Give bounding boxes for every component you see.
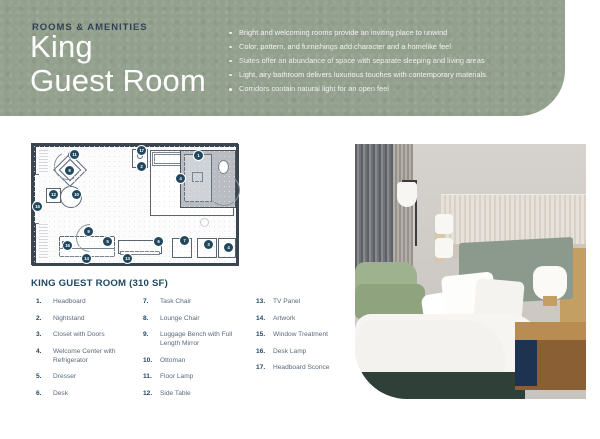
wall-top [32,144,239,147]
legend-item-label: Closet with Doors [53,330,140,339]
plan-marker-15[interactable]: 15 [33,202,42,211]
plan-marker-3[interactable]: 3 [204,240,213,249]
legend-item-number: 2. [36,314,50,323]
bullet-item: Color, pattern, and furnishings add char… [228,40,558,54]
legend-item-label: TV Panel [273,297,356,306]
header-band: ROOMS & AMENITIES King Guest Room Bright… [0,0,565,116]
bullet-item: Light, airy bathroom delivers luxurious … [228,68,558,82]
legend-item-number: 13. [256,297,270,306]
plan-marker-5[interactable]: 5 [103,237,112,246]
legend-item-label: Nightstand [53,314,140,323]
legend-item: 3. Closet with Doors [36,330,140,339]
legend-title: KING GUEST ROOM (310 SF) [31,278,351,289]
photo-floor-lamp-shade [397,182,417,207]
photo-table-lamp-base [543,296,557,306]
plan-marker-17[interactable]: 17 [137,146,146,155]
legend-item: 8. Lounge Chair [143,314,253,323]
window-treatment-upper [39,150,48,174]
plan-marker-12[interactable]: 12 [49,190,58,199]
plan-marker-11[interactable]: 11 [70,150,79,159]
guest-room-photo [355,144,586,399]
legend-item: 2. Nightstand [36,314,140,323]
window-left [35,174,39,224]
plan-marker-4[interactable]: 4 [224,243,233,252]
legend-column-2: 7. Task Chair 8. Lounge Chair 9. Luggage… [143,297,253,406]
bullet-item: Bright and welcoming rooms provide an in… [228,26,558,40]
legend-item-label: Dresser [53,372,140,381]
legend-item-number: 6. [36,389,50,398]
legend-item: 12. Side Table [143,389,253,398]
floor-plan-canvas: 1 17 2 11 8 12 10 15 9 5 16 14 13 6 7 3 … [31,143,238,265]
legend-item: 4. Welcome Center with Refrigerator [36,347,140,365]
legend-item-number: 8. [143,314,157,323]
shower-drain [192,172,203,182]
legend-item-number: 5. [36,372,50,381]
legend-item-label: Ottoman [160,356,253,365]
legend-item: 5. Dresser [36,372,140,381]
legend-item-number: 12. [143,389,157,398]
wall-bottom [32,263,239,266]
legend-item-label: Task Chair [160,297,253,306]
legend-item-label: Artwork [273,314,356,323]
page-title: King Guest Room [30,30,206,98]
bathroom-door-arc [208,174,240,206]
photo-nightstand-inset [515,340,537,386]
legend-item: 1. Headboard [36,297,140,306]
photo-table-lamp-shade [533,266,567,300]
legend-item: 6. Desk [36,389,140,398]
legend-item-label: Headboard Sconce [273,363,356,372]
legend-columns: 1. Headboard 2. Nightstand 3. Closet wit… [31,297,351,405]
legend-item: 17. Headboard Sconce [256,363,356,372]
artwork [200,218,209,227]
legend-item: 9. Luggage Bench with Full Length Mirror [143,330,253,348]
plan-marker-7[interactable]: 7 [180,236,189,245]
plan-marker-9[interactable]: 9 [84,227,93,236]
legend-item-number: 3. [36,330,50,339]
legend-column-1: 1. Headboard 2. Nightstand 3. Closet wit… [36,297,140,406]
legend-item: 16. Desk Lamp [256,347,356,356]
legend-item-number: 17. [256,363,270,372]
legend-item-number: 1. [36,297,50,306]
legend-item: 13. TV Panel [256,297,356,306]
plan-marker-4b[interactable]: 4 [176,174,185,183]
legend-item-label: Headboard [53,297,140,306]
legend-item-label: Floor Lamp [160,372,253,381]
legend-item: 7. Task Chair [143,297,253,306]
legend-item-number: 10. [143,356,157,365]
legend-item-number: 4. [36,347,50,356]
legend-item-number: 16. [256,347,270,356]
legend-item-label: Window Treatment [273,330,356,339]
legend-item-number: 7. [143,297,157,306]
plan-marker-16[interactable]: 16 [63,241,72,250]
feature-bullet-list: Bright and welcoming rooms provide an in… [228,26,558,96]
plan-marker-14[interactable]: 14 [82,254,91,263]
floor-plan: 1 17 2 11 8 12 10 15 9 5 16 14 13 6 7 3 … [31,143,238,265]
plan-marker-6[interactable]: 6 [154,237,163,246]
window-treatment-lower [39,224,48,260]
plan-marker-10[interactable]: 10 [72,190,81,199]
legend-item-number: 11. [143,372,157,381]
legend-item-label: Side Table [160,389,253,398]
wall-right [236,144,239,266]
legend-item-number: 15. [256,330,270,339]
photo-sconce-upper [435,214,453,234]
toilet [218,160,229,174]
legend-item-label: Luggage Bench with Full Length Mirror [160,330,253,348]
legend-item-label: Welcome Center with Refrigerator [53,347,140,365]
plan-marker-8[interactable]: 8 [65,166,74,175]
plan-marker-1[interactable]: 1 [194,151,203,160]
legend-item: 11. Floor Lamp [143,372,253,381]
legend-item-number: 9. [143,330,157,339]
legend-column-3: 13. TV Panel 14. Artwork 15. Window Trea… [256,297,356,380]
legend-item-label: Desk Lamp [273,347,356,356]
legend-item-label: Lounge Chair [160,314,253,323]
photo-sconce-lower [435,238,453,258]
bullet-item: Suites offer an abundance of space with … [228,54,558,68]
plan-marker-13[interactable]: 13 [123,254,132,263]
legend-item: 14. Artwork [256,314,356,323]
legend-item-number: 14. [256,314,270,323]
page-canvas: ROOMS & AMENITIES King Guest Room Bright… [0,0,600,439]
legend-item: 10. Ottoman [143,356,253,365]
bullet-item: Corridors contain natural light for an o… [228,82,558,96]
legend: KING GUEST ROOM (310 SF) 1. Headboard 2.… [31,278,351,405]
plan-marker-2[interactable]: 2 [137,162,146,171]
legend-item-label: Desk [53,389,140,398]
photo-bed-base [355,372,525,399]
legend-item: 15. Window Treatment [256,330,356,339]
